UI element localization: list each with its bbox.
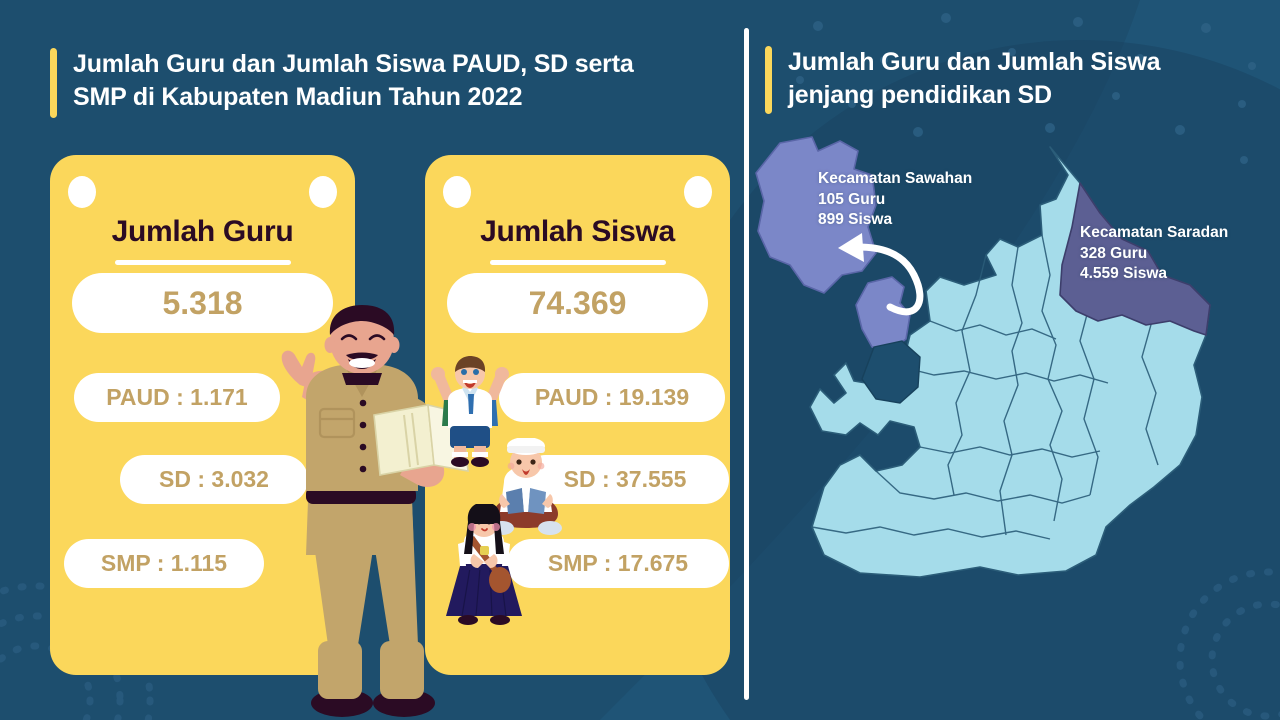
card-heading-siswa: Jumlah Siswa [425, 215, 730, 249]
left-panel-title: Jumlah Guru dan Jumlah Siswa PAUD, SD se… [50, 48, 710, 118]
siswa-paud-row: PAUD : 19.139 [499, 373, 725, 422]
right-panel: Jumlah Guru dan Jumlah Siswa jenjang pen… [745, 0, 1280, 720]
kabupaten-madiun-map: Kecamatan Sawahan 105 Guru 899 Siswa Kec… [750, 135, 1280, 580]
guru-paud-row: PAUD : 1.171 [74, 373, 280, 422]
map-annotation-saradan: Kecamatan Saradan 328 Guru 4.559 Siswa [1080, 223, 1228, 285]
left-panel: Jumlah Guru dan Jumlah Siswa PAUD, SD se… [0, 0, 745, 720]
right-title-text: Jumlah Guru dan Jumlah Siswa jenjang pen… [788, 46, 1160, 111]
card-notch-right-icon [309, 176, 337, 208]
guru-smp-row: SMP : 1.115 [64, 539, 264, 588]
card-heading-underline [115, 260, 291, 265]
total-siswa-value: 74.369 [447, 273, 708, 333]
siswa-smp-row: SMP : 17.675 [507, 539, 729, 588]
girl-student-illustration [438, 504, 530, 628]
card-notch-right-icon [684, 176, 712, 208]
left-title-text: Jumlah Guru dan Jumlah Siswa PAUD, SD se… [73, 48, 634, 113]
map-annotation-sawahan: Kecamatan Sawahan 105 Guru 899 Siswa [818, 169, 972, 231]
card-heading-underline [490, 260, 666, 265]
card-notch-left-icon [443, 176, 471, 208]
infographic-canvas: Jumlah Guru dan Jumlah Siswa PAUD, SD se… [0, 0, 1280, 720]
title-accent-bar [50, 48, 57, 118]
right-panel-title: Jumlah Guru dan Jumlah Siswa jenjang pen… [765, 46, 1245, 114]
title-accent-bar [765, 46, 772, 114]
card-notch-left-icon [68, 176, 96, 208]
card-heading-guru: Jumlah Guru [50, 215, 355, 249]
